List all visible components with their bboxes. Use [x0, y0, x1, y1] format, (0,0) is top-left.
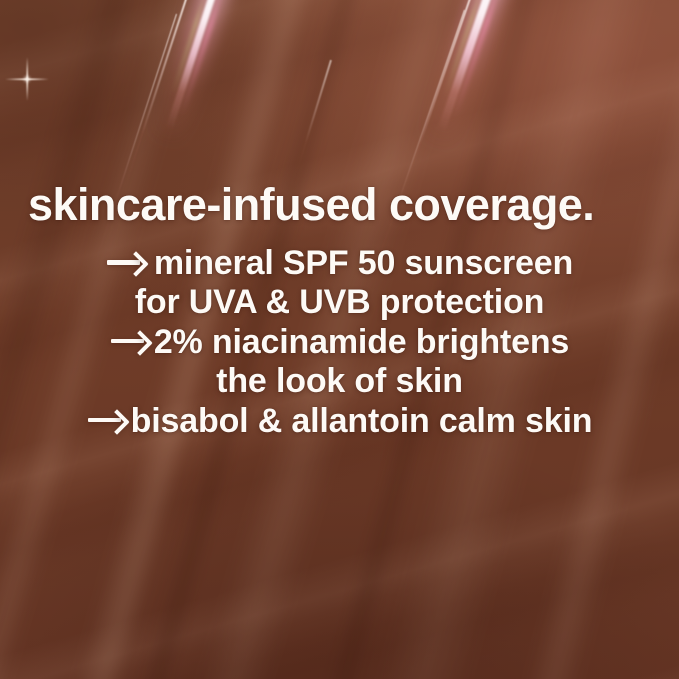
benefit-item-niacinamide: 2% niacinamide brightens the look of ski… [0, 323, 679, 402]
arrow-head [104, 409, 129, 434]
benefit-line-primary: bisabol & allantoin calm skin [0, 402, 679, 441]
benefit-text-line1: 2% niacinamide brightens [154, 323, 569, 361]
benefits-list: mineral SPF 50 sunscreen for UVA & UVB p… [0, 244, 679, 441]
arrow-head [127, 331, 152, 356]
arrow-head [123, 252, 148, 277]
product-benefits-poster: skincare-infused coverage. mineral SPF 5… [0, 0, 679, 679]
benefit-text-line1: bisabol & allantoin calm skin [131, 402, 593, 440]
benefit-item-spf: mineral SPF 50 sunscreen for UVA & UVB p… [0, 244, 679, 323]
benefit-line-primary: mineral SPF 50 sunscreen [0, 244, 679, 283]
page-title: skincare-infused coverage. [28, 182, 658, 227]
arrow-right-icon [106, 250, 148, 274]
benefit-text-line2: for UVA & UVB protection [0, 283, 679, 322]
poster-content: skincare-infused coverage. mineral SPF 5… [0, 0, 679, 679]
arrow-right-icon [87, 408, 129, 432]
arrow-right-icon [110, 329, 152, 353]
benefit-text-line2: the look of skin [0, 362, 679, 401]
benefit-item-bisabol: bisabol & allantoin calm skin [0, 402, 679, 441]
benefit-line-primary: 2% niacinamide brightens [0, 323, 679, 362]
benefit-text-line1: mineral SPF 50 sunscreen [154, 244, 573, 282]
